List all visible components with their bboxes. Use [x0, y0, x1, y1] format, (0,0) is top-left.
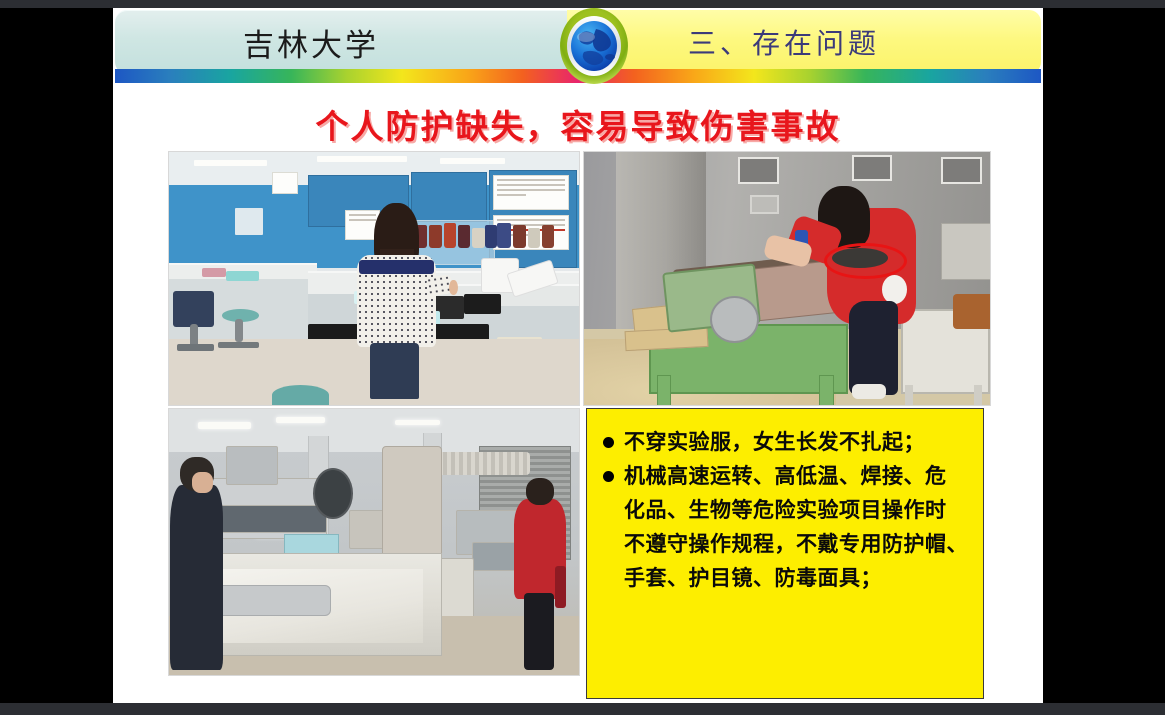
bullet-text: 不穿实验服，女生长发不扎起；	[624, 425, 969, 459]
player-bottom-bar	[0, 703, 1165, 715]
list-item: 不穿实验服，女生长发不扎起；	[599, 425, 969, 459]
hazard-highlight-ellipse	[824, 243, 907, 279]
bullet-text: 机械高速运转、高低温、焊接、危	[624, 459, 969, 493]
bullet-dot-icon	[603, 471, 614, 482]
player-top-bar	[0, 0, 1165, 8]
bullet-dot-icon	[603, 437, 614, 448]
bullet-text: 手套、护目镜、防毒面具；	[624, 561, 969, 595]
university-name: 吉林大学	[115, 10, 567, 74]
bullet-list: 不穿实验服，女生长发不扎起； 机械高速运转、高低温、焊接、危 化品、生物等危险实…	[599, 425, 969, 595]
bullet-text: 不遵守操作规程，不戴专用防护帽、	[624, 527, 969, 561]
list-item: 手套、护目镜、防毒面具；	[599, 561, 969, 595]
globe-logo-icon	[546, 8, 642, 87]
slide-headline: 个人防护缺失，容易导致伤害事故	[113, 100, 1043, 148]
video-stage: 吉林大学 三、存在问题	[0, 8, 1165, 703]
photo-biology-lab	[168, 151, 580, 406]
list-item: 化品、生物等危险实验项目操作时	[599, 493, 969, 527]
list-item: 机械高速运转、高低温、焊接、危	[599, 459, 969, 493]
bullet-text: 化品、生物等危险实验项目操作时	[624, 493, 969, 527]
notes-box: 不穿实验服，女生长发不扎起； 机械高速运转、高低温、焊接、危 化品、生物等危险实…	[586, 408, 984, 699]
presentation-slide: 吉林大学 三、存在问题	[113, 8, 1043, 703]
slide-header: 吉林大学 三、存在问题	[113, 10, 1043, 90]
rainbow-right-half	[578, 69, 1041, 83]
photo-textile-workshop	[168, 408, 580, 676]
rainbow-left-half	[115, 69, 578, 83]
list-item: 不遵守操作规程，不戴专用防护帽、	[599, 527, 969, 561]
photo-sanding-machine	[583, 151, 991, 406]
